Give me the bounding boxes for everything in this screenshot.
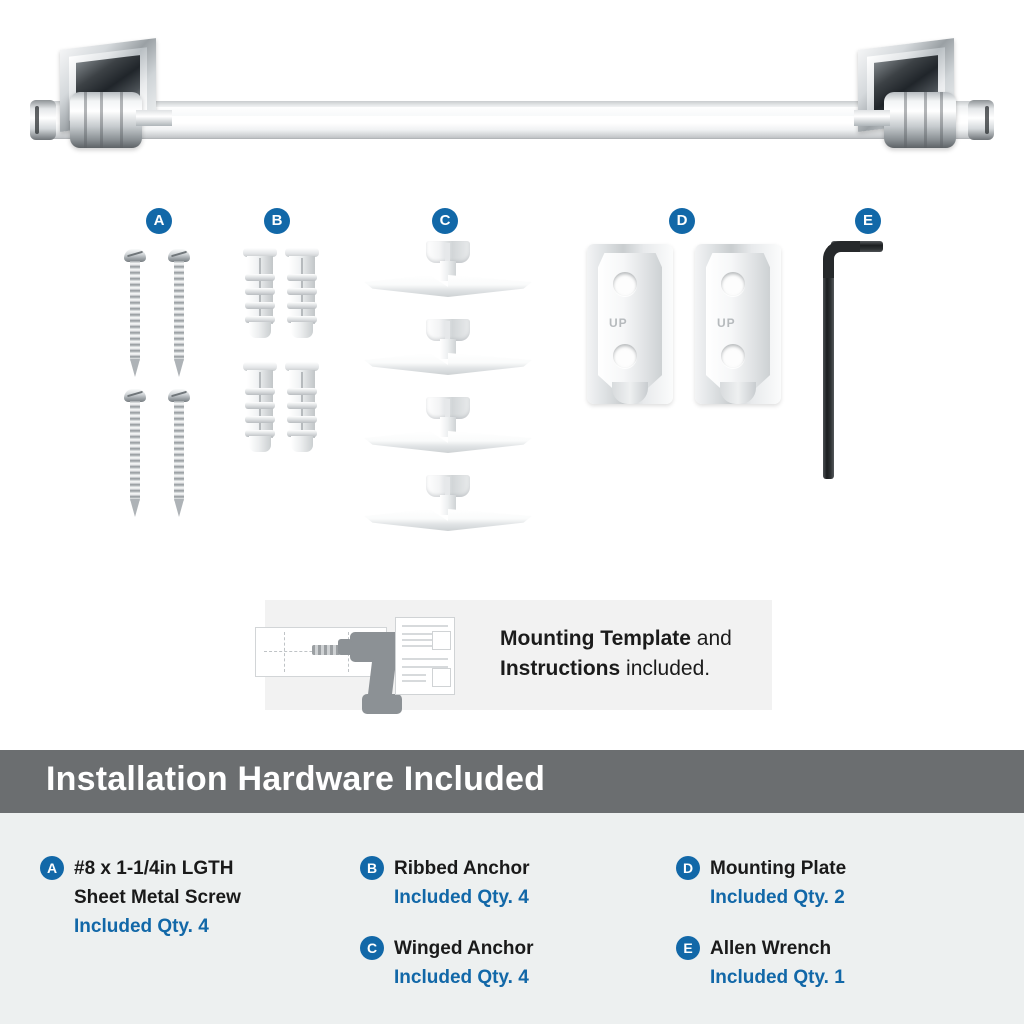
right-bar-post	[884, 92, 956, 148]
left-rod-endcap	[30, 100, 56, 140]
instructions-label: Instructions	[500, 657, 620, 680]
part-badge-d: D	[669, 208, 695, 234]
legend-badge-d: D	[676, 856, 700, 880]
plate-up-marking: UP	[717, 314, 759, 332]
product-hero-image	[0, 0, 1024, 186]
legend-badge-c: C	[360, 936, 384, 960]
part-badge-a: A	[146, 208, 172, 234]
legend-name-c: Winged Anchor	[394, 934, 654, 963]
ribbed-anchor-2	[285, 248, 319, 338]
parts-diagram: A B C D E	[0, 186, 1024, 586]
legend-name-d: Mounting Plate	[710, 854, 970, 883]
legend-name-b: Ribbed Anchor	[394, 854, 654, 883]
section-header-band: Installation Hardware Included	[0, 750, 1024, 813]
legend-qty-c: Included Qty. 4	[394, 963, 654, 992]
mounting-template-and: and	[691, 627, 732, 650]
screw-part-4	[168, 389, 190, 517]
legend-badge-b: B	[360, 856, 384, 880]
part-badge-e: E	[855, 208, 881, 234]
winged-anchor-4	[364, 475, 532, 537]
part-badge-b: B	[264, 208, 290, 234]
hardware-legend: A #8 x 1-1/4in LGTH Sheet Metal Screw In…	[0, 813, 1024, 1024]
rod-highlight	[130, 107, 894, 116]
ribbed-anchor-4	[285, 362, 319, 452]
mounting-plate-1: UP	[587, 244, 673, 404]
winged-anchor-1	[364, 241, 532, 303]
screw-part-2	[168, 249, 190, 377]
plate-up-marking: UP	[609, 314, 651, 332]
right-rod-endcap	[968, 100, 994, 140]
legend-name-a-line1: #8 x 1-1/4in LGTH	[74, 854, 334, 883]
mounting-template-label: Mounting Template	[500, 627, 691, 650]
instructions-document-icon	[395, 617, 455, 695]
mounting-template-text: Mounting Template and Instructions inclu…	[500, 624, 770, 684]
legend-qty-d: Included Qty. 2	[710, 883, 970, 912]
part-badge-c: C	[432, 208, 458, 234]
screw-part-1	[124, 249, 146, 377]
mounting-plate-2: UP	[695, 244, 781, 404]
legend-qty-a: Included Qty. 4	[74, 912, 334, 941]
screw-part-3	[124, 389, 146, 517]
ribbed-anchor-3	[243, 362, 277, 452]
legend-badge-a: A	[40, 856, 64, 880]
winged-anchor-2	[364, 319, 532, 381]
ribbed-anchor-1	[243, 248, 277, 338]
product-infographic: A B C D E	[0, 0, 1024, 1024]
legend-qty-e: Included Qty. 1	[710, 963, 970, 992]
instructions-included: included.	[620, 657, 710, 680]
legend-name-a-line2: Sheet Metal Screw	[74, 883, 334, 912]
winged-anchor-3	[364, 397, 532, 459]
section-title: Installation Hardware Included	[46, 760, 545, 799]
left-bar-post	[70, 92, 142, 148]
legend-name-e: Allen Wrench	[710, 934, 970, 963]
legend-qty-b: Included Qty. 4	[394, 883, 654, 912]
legend-badge-e: E	[676, 936, 700, 960]
